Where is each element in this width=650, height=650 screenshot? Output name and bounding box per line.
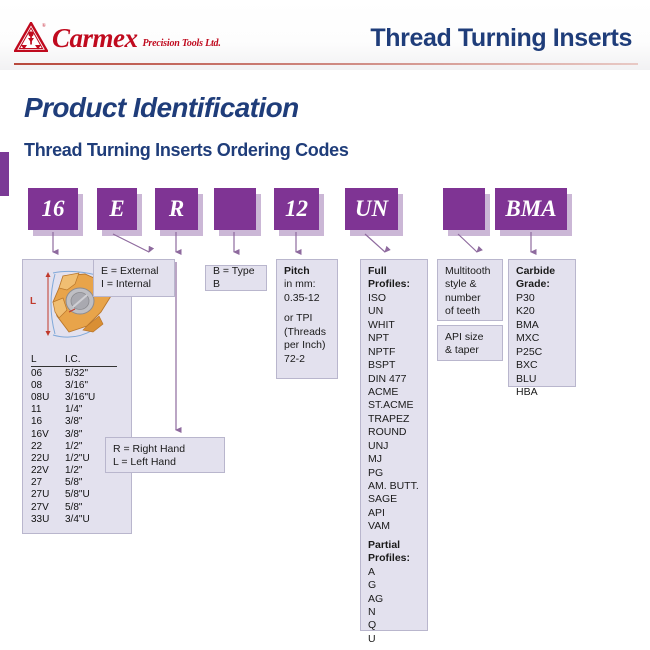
code-box-hand-type[interactable]: E: [97, 188, 137, 230]
page-subtitle: Thread Turning Inserts Ordering Codes: [24, 140, 349, 161]
cell-ic: 5/32": [65, 367, 117, 380]
code-box-size-label: 16: [42, 197, 65, 222]
table-row: 111/4": [31, 404, 117, 416]
list-item: WHIT: [368, 319, 420, 332]
multitooth-l3: number: [445, 292, 495, 305]
list-item: ST.ACME: [368, 399, 420, 412]
type-b-line: B = Type B: [213, 265, 259, 292]
external-internal-box: E = External I = Internal: [93, 259, 175, 297]
code-box-size[interactable]: 16: [28, 188, 78, 230]
code-box-profile-label: UN: [355, 197, 388, 222]
column-header-l: L: [31, 354, 65, 367]
header-title: Thread Turning Inserts: [370, 24, 632, 53]
table-row: 163/8": [31, 416, 117, 428]
code-box-grade-label: BMA: [505, 197, 556, 222]
partial-profiles-list: AGAGNQU: [368, 566, 420, 647]
list-item: UN: [368, 305, 420, 318]
cell-l: 08U: [31, 391, 65, 403]
code-box-type[interactable]: [214, 188, 256, 230]
left-hand-line: L = Left Hand: [113, 456, 217, 469]
list-item: Q: [368, 619, 420, 632]
table-row: 08U3/16"U: [31, 391, 117, 403]
list-item: VAM: [368, 520, 420, 533]
dimension-l-label: L: [30, 296, 36, 307]
brand-subtitle: Precision Tools Ltd.: [143, 38, 221, 49]
code-box-grade[interactable]: BMA: [495, 188, 567, 230]
multitooth-l2: style &: [445, 278, 495, 291]
list-item: DIN 477: [368, 373, 420, 386]
pitch-tpi-l1: (Threads: [284, 326, 330, 339]
cell-ic: 3/16": [65, 379, 117, 391]
cell-l: 22U: [31, 452, 65, 464]
carmex-logo: ® Carmex Precision Tools Ltd.: [14, 22, 221, 52]
grade-heading-l1: Carbide: [516, 265, 568, 278]
list-item: ROUND: [368, 426, 420, 439]
list-item: N: [368, 606, 420, 619]
cell-l: 27U: [31, 489, 65, 501]
multitooth-l4: of teeth: [445, 305, 495, 318]
table-row: 083/16": [31, 379, 117, 391]
api-l1: API size: [445, 331, 495, 344]
cell-l: 33U: [31, 513, 65, 525]
list-item: P30: [516, 292, 568, 305]
table-header-row: L I.C.: [31, 354, 117, 367]
cell-ic: 3/8": [65, 416, 117, 428]
brand-name: Carmex: [52, 25, 138, 52]
pitch-tpi-l2: per Inch): [284, 339, 330, 352]
right-hand-line: R = Right Hand: [113, 443, 217, 456]
code-box-direction[interactable]: R: [155, 188, 198, 230]
list-item: U: [368, 633, 420, 646]
table-row: 33U3/4"U: [31, 513, 117, 525]
code-box-multitooth[interactable]: [443, 188, 485, 230]
full-profiles-heading-l2: Profiles:: [368, 278, 420, 291]
pitch-mm-label: in mm:: [284, 278, 330, 291]
cell-ic: 5/8": [65, 477, 117, 489]
list-item: BSPT: [368, 359, 420, 372]
cell-ic: 1/4": [65, 404, 117, 416]
cell-ic: 3/4"U: [65, 513, 117, 525]
cell-l: 22V: [31, 465, 65, 477]
list-item: NPTF: [368, 346, 420, 359]
cell-l: 06: [31, 367, 65, 380]
code-box-profile[interactable]: UN: [345, 188, 398, 230]
list-item: HBA: [516, 386, 568, 399]
header-divider: [14, 63, 638, 65]
list-item: NPT: [368, 332, 420, 345]
list-item: MJ: [368, 453, 420, 466]
list-item: AM. BUTT.: [368, 480, 420, 493]
table-row: 27U5/8"U: [31, 489, 117, 501]
page-title: Product Identification: [24, 92, 299, 124]
cell-l: 27: [31, 477, 65, 489]
list-item: P25C: [516, 346, 568, 359]
pitch-tpi-range: 72-2: [284, 353, 330, 366]
cell-l: 16V: [31, 428, 65, 440]
full-profiles-list: ISOUNWHITNPTNPTFBSPTDIN 477ACMEST.ACMETR…: [368, 292, 420, 534]
code-box-direction-label: R: [169, 197, 184, 222]
list-item: AG: [368, 593, 420, 606]
carbide-grade-box: Carbide Grade: P30K20BMAMXCP25CBXCBLUHBA: [508, 259, 576, 387]
cell-l: 08: [31, 379, 65, 391]
list-item: PG: [368, 467, 420, 480]
list-item: SAGE: [368, 493, 420, 506]
cell-ic: 5/8": [65, 501, 117, 513]
partial-profiles-heading-l1: Partial: [368, 539, 420, 552]
type-b-box: B = Type B: [205, 265, 267, 291]
svg-text:®: ®: [42, 23, 46, 29]
table-row: 065/32": [31, 367, 117, 380]
list-item: BXC: [516, 359, 568, 372]
table-row: 275/8": [31, 477, 117, 489]
pitch-box: Pitch in mm: 0.35-12 or TPI (Threads per…: [276, 259, 338, 379]
list-item: A: [368, 566, 420, 579]
hand-direction-box: R = Right Hand L = Left Hand: [105, 437, 225, 473]
cell-l: 11: [31, 404, 65, 416]
internal-line: I = Internal: [101, 278, 167, 291]
multitooth-l1: Multitooth: [445, 265, 495, 278]
accent-bar: [0, 152, 9, 196]
profiles-box: Full Profiles: ISOUNWHITNPTNPTFBSPTDIN 4…: [360, 259, 428, 631]
cell-ic: 5/8"U: [65, 489, 117, 501]
column-header-ic: I.C.: [65, 354, 117, 367]
full-profiles-heading-l1: Full: [368, 265, 420, 278]
cell-ic: 3/16"U: [65, 391, 117, 403]
list-item: ACME: [368, 386, 420, 399]
list-item: G: [368, 579, 420, 592]
pitch-heading: Pitch: [284, 265, 330, 278]
list-item: API: [368, 507, 420, 520]
api-l2: & taper: [445, 344, 495, 357]
code-box-pitch[interactable]: 12: [274, 188, 319, 230]
cell-l: 22: [31, 440, 65, 452]
list-item: BMA: [516, 319, 568, 332]
pitch-mm-range: 0.35-12: [284, 292, 330, 305]
product-identification-page: ® Carmex Precision Tools Ltd. Thread Tur…: [0, 0, 650, 650]
list-item: UNJ: [368, 440, 420, 453]
cell-l: 16: [31, 416, 65, 428]
partial-profiles-heading-l2: Profiles:: [368, 552, 420, 565]
carmex-triangle-logo-icon: ®: [14, 22, 48, 52]
pitch-tpi-label: or TPI: [284, 312, 330, 325]
list-item: TRAPEZ: [368, 413, 420, 426]
table-row: 27V5/8": [31, 501, 117, 513]
list-item: ISO: [368, 292, 420, 305]
api-size-taper-box: API size & taper: [437, 325, 503, 361]
list-item: MXC: [516, 332, 568, 345]
grade-heading-l2: Grade:: [516, 278, 568, 291]
external-line: E = External: [101, 265, 167, 278]
size-reference-box: L I.C. L I.C. 065/32"083/16"08U3/16"U111…: [22, 259, 132, 534]
list-item: BLU: [516, 373, 568, 386]
cell-l: 27V: [31, 501, 65, 513]
grade-list: P30K20BMAMXCP25CBXCBLUHBA: [516, 292, 568, 400]
code-box-hand-type-label: E: [109, 197, 124, 222]
list-item: K20: [516, 305, 568, 318]
multitooth-box: Multitooth style & number of teeth: [437, 259, 503, 321]
code-box-pitch-label: 12: [285, 197, 308, 222]
page-header: ® Carmex Precision Tools Ltd. Thread Tur…: [0, 0, 650, 70]
